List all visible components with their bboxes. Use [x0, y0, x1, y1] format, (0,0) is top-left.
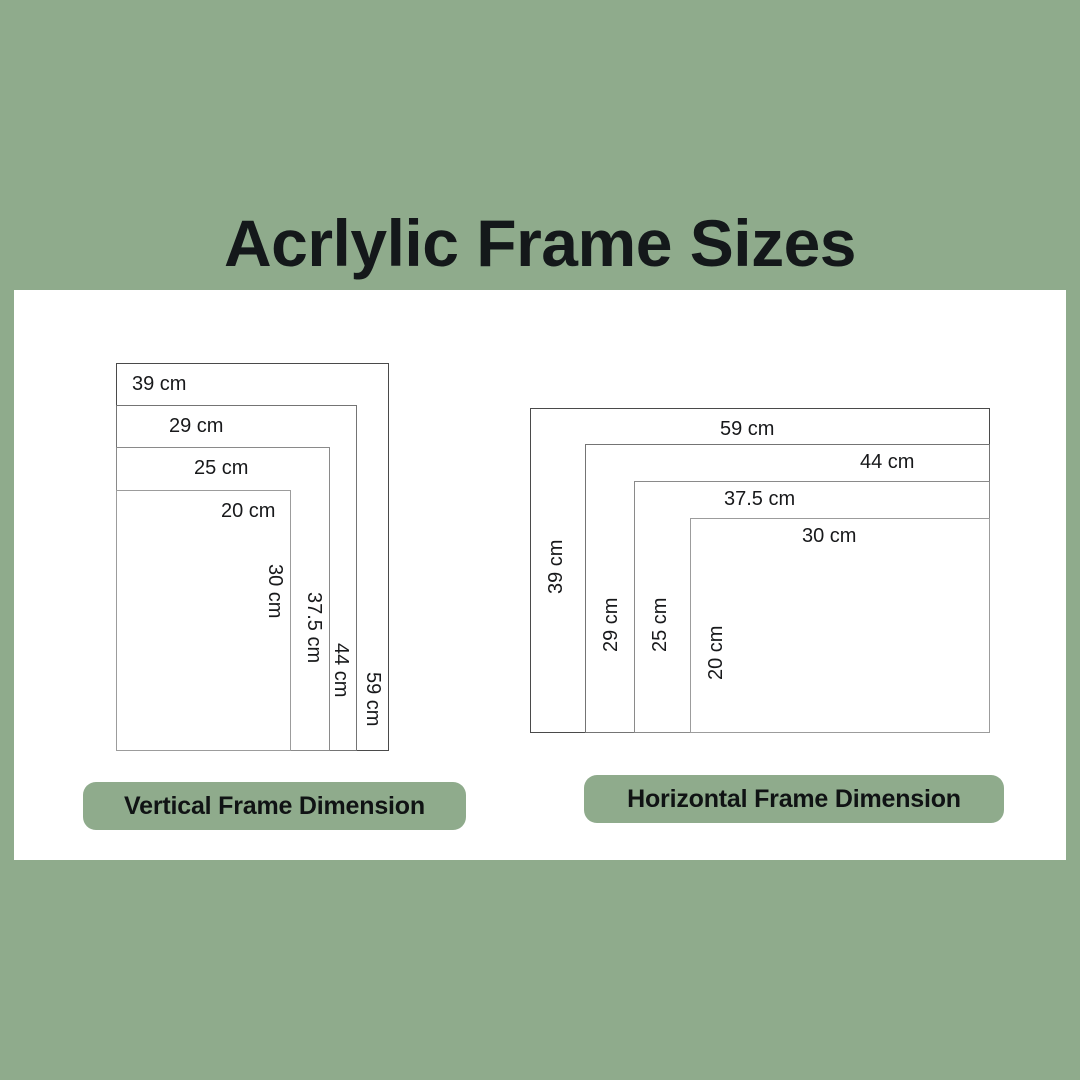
frame-rect-vertical-4 [116, 490, 291, 751]
vertical-frame-caption: Vertical Frame Dimension [83, 782, 466, 830]
dimension-label-horizontal-height-2: 29 cm [601, 598, 621, 652]
dimension-label-horizontal-width-4: 30 cm [802, 526, 856, 546]
dimension-label-vertical-height-2: 44 cm [331, 643, 351, 697]
dimension-label-vertical-height-1: 59 cm [363, 672, 383, 726]
page-title: Acrlylic Frame Sizes [0, 207, 1080, 280]
dimension-label-horizontal-height-4: 20 cm [706, 626, 726, 680]
dimension-label-horizontal-width-1: 59 cm [720, 419, 774, 439]
dimension-label-horizontal-width-2: 44 cm [860, 452, 914, 472]
dimension-label-horizontal-height-3: 25 cm [650, 598, 670, 652]
dimension-label-vertical-width-1: 39 cm [132, 374, 186, 394]
dimension-label-horizontal-height-1: 39 cm [546, 540, 566, 594]
horizontal-frame-diagram: 59 cm 44 cm 37.5 cm 30 cm 39 cm 29 cm 25… [530, 408, 995, 738]
horizontal-frame-caption: Horizontal Frame Dimension [584, 775, 1004, 823]
content-card: 39 cm 29 cm 25 cm 20 cm 30 cm 37.5 cm 44… [14, 290, 1066, 860]
frame-rect-horizontal-4 [690, 518, 990, 733]
dimension-label-vertical-height-4: 30 cm [265, 564, 285, 618]
dimension-label-vertical-width-2: 29 cm [169, 416, 223, 436]
vertical-frame-diagram: 39 cm 29 cm 25 cm 20 cm 30 cm 37.5 cm 44… [116, 363, 396, 758]
dimension-label-vertical-width-4: 20 cm [221, 501, 275, 521]
dimension-label-horizontal-width-3: 37.5 cm [724, 489, 795, 509]
poster: Acrlylic Frame Sizes 39 cm 29 cm 25 cm 2… [0, 0, 1080, 1080]
vertical-frame-panel: 39 cm 29 cm 25 cm 20 cm 30 cm 37.5 cm 44… [70, 290, 510, 860]
dimension-label-vertical-width-3: 25 cm [194, 458, 248, 478]
horizontal-frame-panel: 59 cm 44 cm 37.5 cm 30 cm 39 cm 29 cm 25… [514, 290, 1066, 860]
dimension-label-vertical-height-3: 37.5 cm [304, 592, 324, 663]
